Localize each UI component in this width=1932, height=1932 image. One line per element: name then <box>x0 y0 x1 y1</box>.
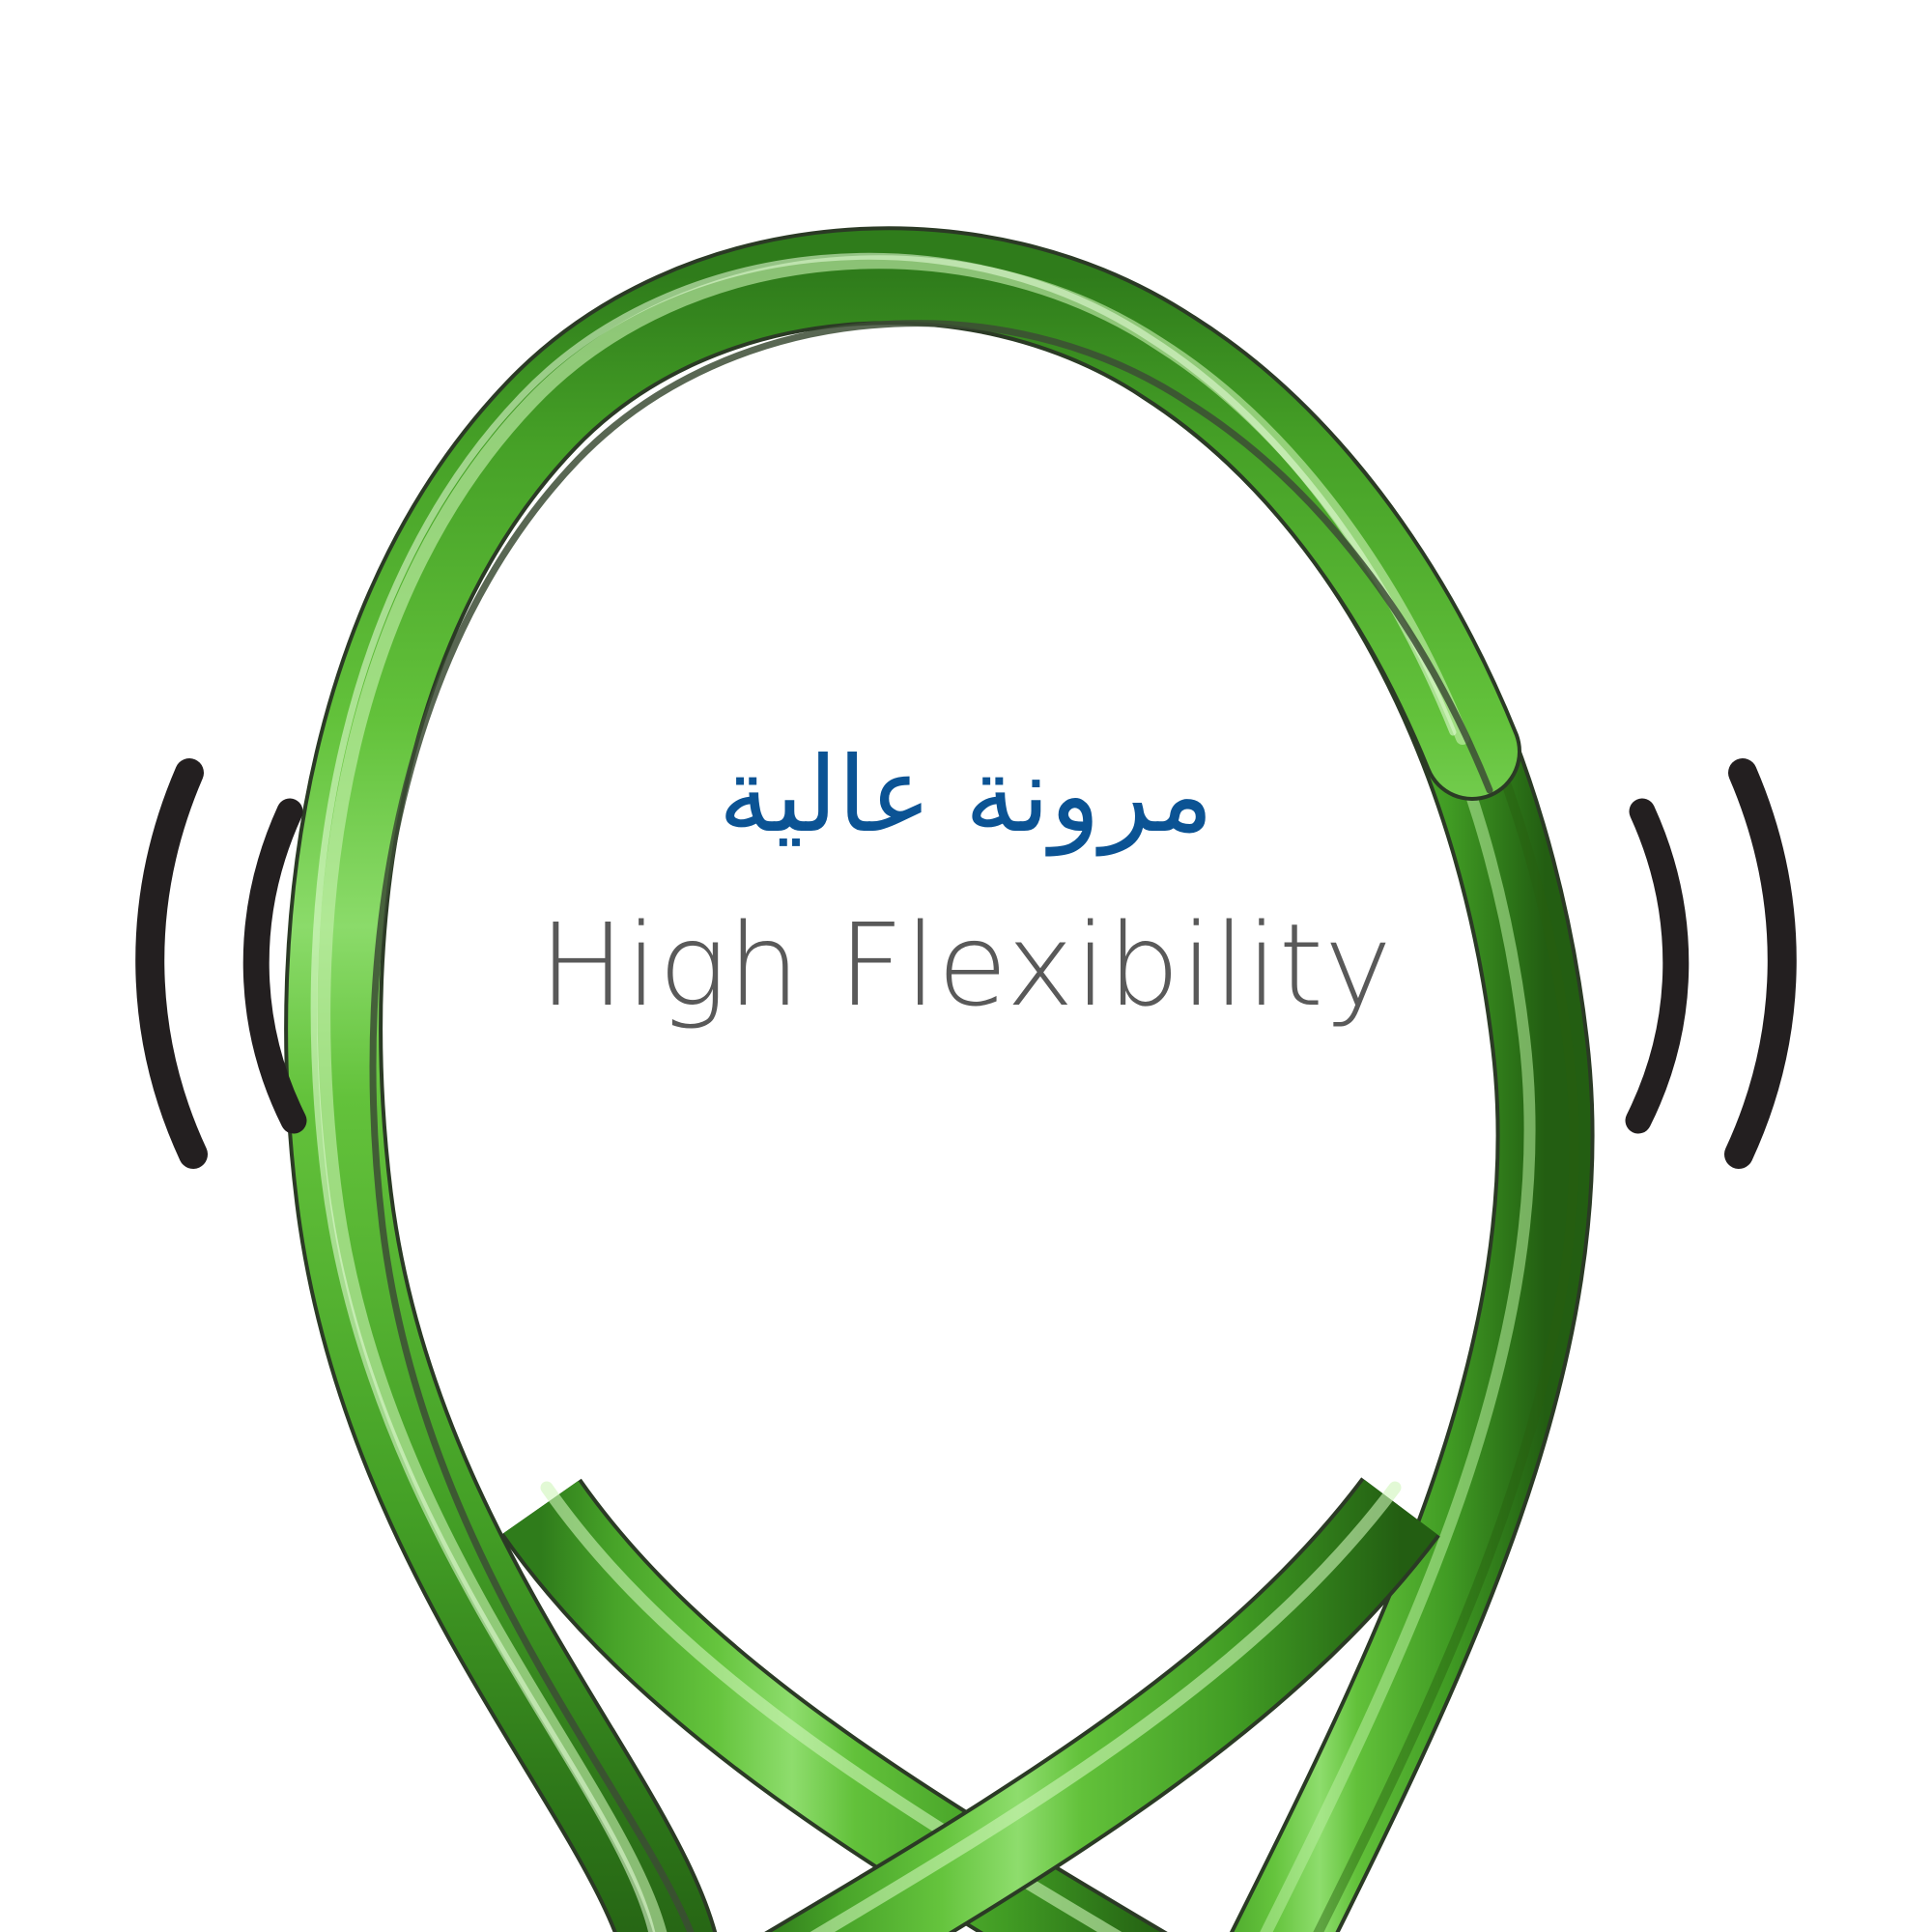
hose-crossing-overlap <box>1507 850 1553 1546</box>
hose-strand-front <box>314 256 1490 1932</box>
motion-arc-right-inner <box>1638 811 1676 1121</box>
hose-loop <box>314 256 1574 1932</box>
motion-arc-right-outer <box>1739 773 1782 1154</box>
hose-illustration <box>0 0 1932 1932</box>
product-feature-graphic: مرونة عالية High Flexibility <box>0 0 1932 1932</box>
motion-arcs-left <box>150 773 294 1154</box>
motion-arcs-right <box>1638 773 1782 1154</box>
motion-arc-left-outer <box>150 773 193 1154</box>
